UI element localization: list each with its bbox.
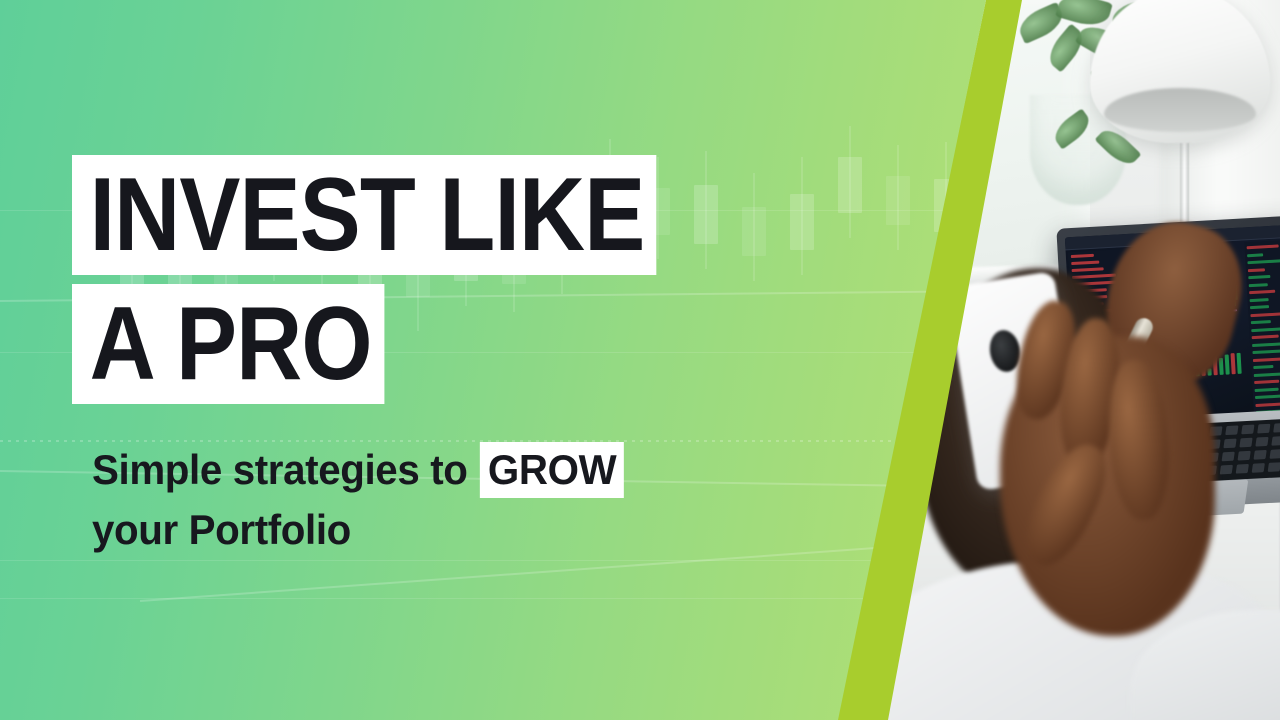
headline: INVEST LIKE A PRO xyxy=(72,155,736,404)
keyboard-key xyxy=(1236,464,1249,474)
watchlist-row xyxy=(1251,320,1271,324)
watermark-candle xyxy=(838,157,862,213)
orderbook-row xyxy=(1072,267,1104,272)
watermark-gridline xyxy=(0,560,1000,561)
keyboard-key xyxy=(1239,438,1252,448)
keyboard-key xyxy=(1222,452,1235,462)
keyboard-key xyxy=(1255,437,1268,447)
volume-bar xyxy=(1236,353,1241,374)
keyboard-key xyxy=(1223,439,1236,449)
watchlist-row xyxy=(1250,298,1269,302)
watchlist-row xyxy=(1253,357,1280,362)
watchlist-row xyxy=(1251,327,1280,332)
keyboard-key xyxy=(1273,423,1280,433)
watermark-candle xyxy=(790,194,814,250)
keyboard-key xyxy=(1225,425,1238,435)
orderbook-row xyxy=(1071,254,1094,258)
subtitle: Simple strategies to GROW your Portfolio xyxy=(92,440,624,560)
keyboard-key xyxy=(1252,463,1265,473)
watchlist-row xyxy=(1250,305,1269,309)
watchlist-row xyxy=(1248,275,1271,279)
watchlist-row xyxy=(1249,283,1268,287)
watchlist-row xyxy=(1255,401,1280,406)
watermark-candle xyxy=(886,176,910,226)
subtitle-prefix: Simple strategies to xyxy=(92,446,478,493)
watermark-gridline xyxy=(0,598,1000,599)
watchlist-row xyxy=(1252,349,1280,354)
volume-bar xyxy=(1230,353,1235,374)
keyboard-key xyxy=(1241,425,1254,435)
keyboard-key xyxy=(1220,465,1233,475)
watchlist-row xyxy=(1247,244,1279,249)
keyboard-key xyxy=(1271,436,1280,446)
watchlist-row xyxy=(1255,394,1280,399)
volume-bar xyxy=(1224,355,1229,375)
keyboard-key xyxy=(1257,424,1270,434)
keyboard-key xyxy=(1268,462,1280,472)
watchlist-row xyxy=(1249,290,1275,294)
watchlist-row xyxy=(1253,365,1273,369)
lamp-shade-inner xyxy=(1104,88,1256,132)
keyboard-key xyxy=(1238,451,1251,461)
subtitle-line-1: Simple strategies to GROW xyxy=(92,440,624,500)
watchlist-row xyxy=(1252,335,1280,340)
orderbook-row xyxy=(1072,274,1116,279)
watchlist-row xyxy=(1254,372,1280,377)
watermark-candle xyxy=(742,207,766,257)
watchlist-row xyxy=(1255,387,1279,391)
watchlist-row xyxy=(1254,380,1279,384)
watchlist-row xyxy=(1247,259,1280,264)
subtitle-highlight-grow: GROW xyxy=(480,442,624,498)
headline-line-1: INVEST LIKE xyxy=(72,155,657,275)
keyboard-key xyxy=(1269,449,1280,459)
watchlist-row xyxy=(1252,342,1280,347)
watchlist-row xyxy=(1248,268,1265,272)
watchlist-row xyxy=(1247,253,1263,257)
headline-line-2: A PRO xyxy=(72,284,384,404)
watchlist-panel xyxy=(1244,240,1280,419)
keyboard-key xyxy=(1253,450,1266,460)
orderbook-row xyxy=(1071,261,1099,266)
invest-banner: INVEST LIKE A PRO Simple strategies to G… xyxy=(0,0,1280,720)
watchlist-row xyxy=(1250,312,1280,317)
subtitle-line-2: your Portfolio xyxy=(92,500,624,560)
